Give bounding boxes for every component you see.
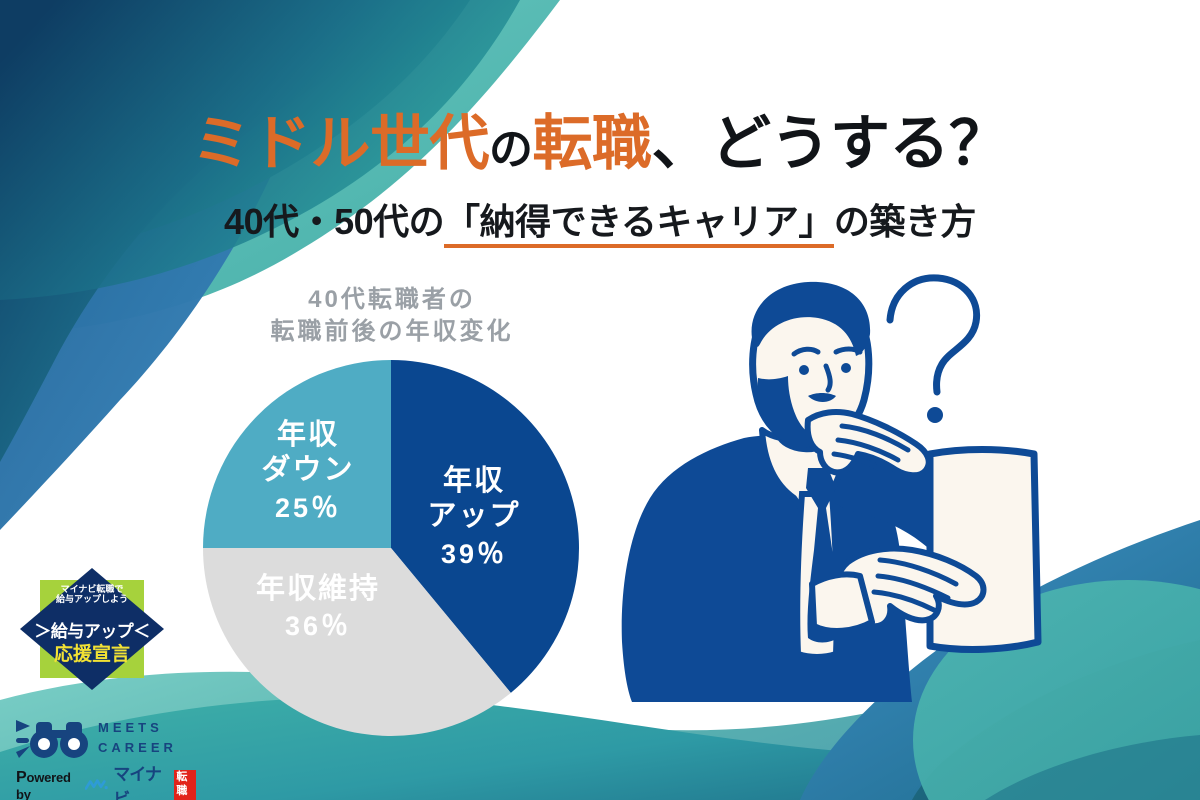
meets-career-logo[interactable]: MEETS CAREER Powered by マイナビ 転職 xyxy=(14,714,196,786)
title-segment-middle-generation: ミドル世代 xyxy=(192,110,490,177)
pie-label-income-down: 年収 ダウン 25％ xyxy=(233,418,383,525)
question-mark-dot xyxy=(927,407,943,423)
pie-label-income-down-line2: ダウン xyxy=(233,453,383,488)
page-title: ミドル世代の転職、どうする？ xyxy=(0,112,1200,177)
subtitle-segment-ages: 40代・50代の xyxy=(224,201,444,242)
poster-canvas: ミドル世代の転職、どうする？ 40代・50代の「納得できるキャリア」の築き方 4… xyxy=(0,0,1200,800)
mynavi-wordmark: マイナビ xyxy=(113,760,169,800)
badge-top-text: マイナビ転職で 給与アップしよう xyxy=(18,584,166,605)
kyuyo-up-badge: マイナビ転職で 給与アップしよう ＞給与アップ＜ 応援宣言 xyxy=(18,566,166,692)
badge-top-line1: マイナビ転職で xyxy=(18,584,166,594)
document xyxy=(930,450,1038,650)
title-segment-tenshoku: 転職 xyxy=(533,110,652,177)
powered-by-cap: P xyxy=(16,769,26,786)
headline-block: ミドル世代の転職、どうする？ 40代・50代の「納得できるキャリア」の築き方 xyxy=(0,112,1200,245)
pie-label-income-down-line1: 年収 xyxy=(233,418,383,453)
pie-label-income-up-line1: 年収 xyxy=(399,464,549,499)
mynavi-mark-icon xyxy=(85,778,108,792)
subtitle-segment-tail: の築き方 xyxy=(834,201,976,242)
powered-by-row: Powered by マイナビ 転職 xyxy=(16,760,196,800)
powered-by-text: Powered by xyxy=(16,769,80,800)
pie-chart: 年収 アップ 39％ 年収 ダウン 25％ 年収維持 36％ xyxy=(203,360,579,736)
pie-label-income-keep-line1: 年収維持 xyxy=(225,572,411,607)
pie-label-income-keep: 年収維持 36％ xyxy=(225,572,411,643)
logo-word-career: CAREER xyxy=(98,738,177,758)
question-mark-icon xyxy=(890,278,977,392)
logo-word-meets: MEETS xyxy=(98,718,177,738)
chart-title: 40代転職者の 転職前後の年収変化 xyxy=(196,284,588,349)
shirt-cuff xyxy=(812,574,872,631)
thinking-businessman-illustration xyxy=(612,262,1042,702)
title-segment-question: 、どうする？ xyxy=(652,110,1009,177)
eye-left xyxy=(799,365,809,375)
binoculars-icon xyxy=(16,716,96,760)
badge-main-text: ＞給与アップ＜ xyxy=(18,622,166,642)
subtitle-segment-quoted: 「納得できるキャリア」 xyxy=(444,201,834,248)
title-segment-no: の xyxy=(489,125,533,174)
wave-bottom-dark2 xyxy=(985,735,1200,800)
chart-title-line2: 転職前後の年収変化 xyxy=(196,316,588,348)
eye-right xyxy=(841,363,851,373)
pie-label-income-up-line2: アップ xyxy=(399,499,549,534)
logo-wordmark: MEETS CAREER xyxy=(98,718,177,757)
tenshoku-badge: 転職 xyxy=(174,770,196,800)
badge-top-line2: 給与アップしよう xyxy=(18,594,166,604)
pie-value-income-up: 39％ xyxy=(399,538,549,571)
chart-title-line1: 40代転職者の xyxy=(196,284,588,316)
pie-label-income-up: 年収 アップ 39％ xyxy=(399,464,549,571)
pie-value-income-down: 25％ xyxy=(233,492,383,525)
page-subtitle: 40代・50代の「納得できるキャリア」の築き方 xyxy=(0,193,1200,245)
badge-sub-text: 応援宣言 xyxy=(18,644,166,666)
pie-value-income-keep: 36％ xyxy=(225,610,411,643)
